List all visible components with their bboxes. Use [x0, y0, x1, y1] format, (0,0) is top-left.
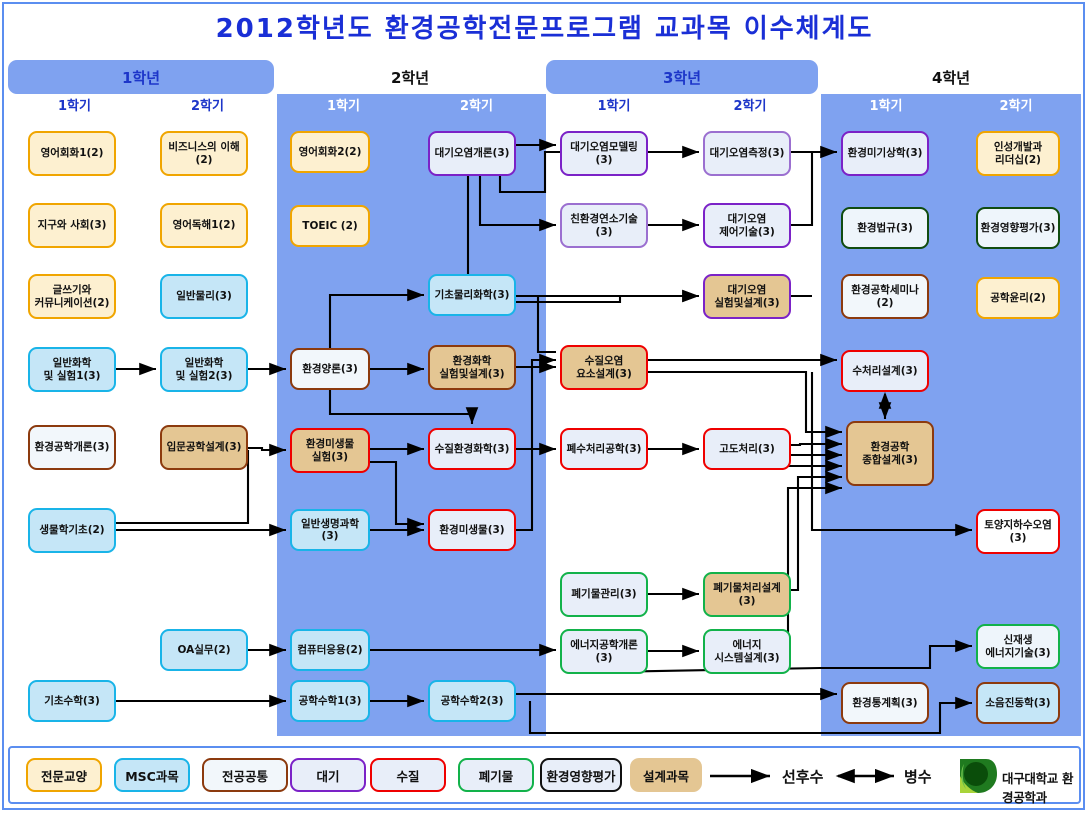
course-node-eng1[interactable]: 영어회화1(2) — [28, 131, 116, 176]
course-node-envint[interactable]: 환경공학개론(3) — [28, 425, 116, 470]
curriculum-flowchart-page: 2012학년도 환경공학전문프로그램 교과목 이수체계도 1학년2학년3학년4학… — [0, 0, 1089, 814]
course-node-comp[interactable]: 컴퓨터응용(2) — [290, 629, 370, 671]
legend-logo-text: 대구대학교 환경공학과 — [1002, 768, 1079, 806]
course-node-air0[interactable]: 대기오염개론(3) — [428, 131, 516, 176]
course-node-eia[interactable]: 환경영향평가(3) — [976, 207, 1060, 249]
course-node-wchem[interactable]: 수질환경화학(3) — [428, 428, 516, 470]
course-node-intdes[interactable]: 입문공학설계(3) — [160, 425, 248, 470]
course-node-micr[interactable]: 환경미생물(3) — [428, 509, 516, 551]
course-node-law[interactable]: 환경법규(3) — [841, 207, 929, 249]
course-node-math2[interactable]: 공학수학2(3) — [428, 680, 516, 722]
course-node-rd1[interactable]: 영어독해1(2) — [160, 203, 248, 248]
course-node-envnut[interactable]: 환경양론(3) — [290, 348, 370, 390]
course-node-phys[interactable]: 일반물리(3) — [160, 274, 248, 319]
course-node-renew[interactable]: 신재생 에너지기술(3) — [976, 624, 1060, 669]
course-node-oa[interactable]: OA실무(2) — [160, 629, 248, 671]
course-node-wdes[interactable]: 폐기물처리설계 (3) — [703, 572, 791, 617]
course-node-pchem[interactable]: 기초물리화학(3) — [428, 274, 516, 316]
course-node-biz[interactable]: 비즈니스의 이해 (2) — [160, 131, 248, 176]
course-node-math1[interactable]: 공학수학1(3) — [290, 680, 370, 722]
course-node-person[interactable]: 인성개발과 리더십(2) — [976, 131, 1060, 176]
course-node-ethic[interactable]: 공학윤리(2) — [976, 277, 1060, 319]
course-node-envpl[interactable]: 환경통계획(3) — [841, 682, 929, 724]
legend-prereq-label: 선후수 — [782, 766, 823, 787]
course-node-semi[interactable]: 환경공학세미나 (2) — [841, 274, 929, 319]
course-node-write[interactable]: 글쓰기와 커뮤니케이션(2) — [28, 274, 116, 319]
course-node-green[interactable]: 친환경연소기술 (3) — [560, 203, 648, 248]
course-node-airmea[interactable]: 대기오염측정(3) — [703, 131, 791, 176]
course-node-wtdes[interactable]: 수처리설계(3) — [841, 350, 929, 392]
course-node-eng2[interactable]: 영어회화2(2) — [290, 131, 370, 173]
course-node-airctl[interactable]: 대기오염 제어기술(3) — [703, 203, 791, 248]
course-node-earth[interactable]: 지구와 사회(3) — [28, 203, 116, 248]
course-node-airlab[interactable]: 대기오염 실험및설계(3) — [703, 274, 791, 319]
course-node-bio[interactable]: 생물학기초(2) — [28, 508, 116, 553]
course-node-cap[interactable]: 환경공학 종합설계(3) — [846, 421, 934, 486]
course-node-adv[interactable]: 고도처리(3) — [703, 428, 791, 470]
course-node-energy[interactable]: 에너지공학개론 (3) — [560, 629, 648, 674]
university-logo-icon — [956, 756, 998, 796]
course-node-waste[interactable]: 폐수처리공학(3) — [560, 428, 648, 470]
course-node-wmgmt[interactable]: 폐기물관리(3) — [560, 572, 648, 617]
diagram-canvas: 영어회화1(2)비즈니스의 이해 (2)지구와 사회(3)영어독해1(2)글쓰기… — [0, 0, 1089, 814]
course-node-chem1[interactable]: 일반화학 및 실험1(3) — [28, 347, 116, 392]
course-node-micrlab[interactable]: 환경미생물 실험(3) — [290, 428, 370, 473]
course-node-meteo[interactable]: 환경미기상학(3) — [841, 131, 929, 176]
course-node-soil[interactable]: 토양지하수오염 (3) — [976, 509, 1060, 554]
course-node-chemlab[interactable]: 환경화학 실험및설계(3) — [428, 345, 516, 390]
course-node-chem2[interactable]: 일반화학 및 실험2(3) — [160, 347, 248, 392]
legend-concurrent-label: 병수 — [904, 766, 932, 787]
legend-panel: 전문교양MSC과목전공공통대기수질폐기물환경영향평가설계과목 선후수 병수 — [8, 746, 1081, 804]
course-node-esys[interactable]: 에너지 시스템설계(3) — [703, 629, 791, 674]
course-node-toeic[interactable]: TOEIC (2) — [290, 205, 370, 247]
course-node-lifesci[interactable]: 일반생명과학(3) — [290, 509, 370, 551]
course-node-airmod[interactable]: 대기오염모델링 (3) — [560, 131, 648, 176]
course-node-wpol[interactable]: 수질오염 요소설계(3) — [560, 345, 648, 390]
course-node-noise[interactable]: 소음진동학(3) — [976, 682, 1060, 724]
course-node-math0[interactable]: 기초수학(3) — [28, 680, 116, 722]
